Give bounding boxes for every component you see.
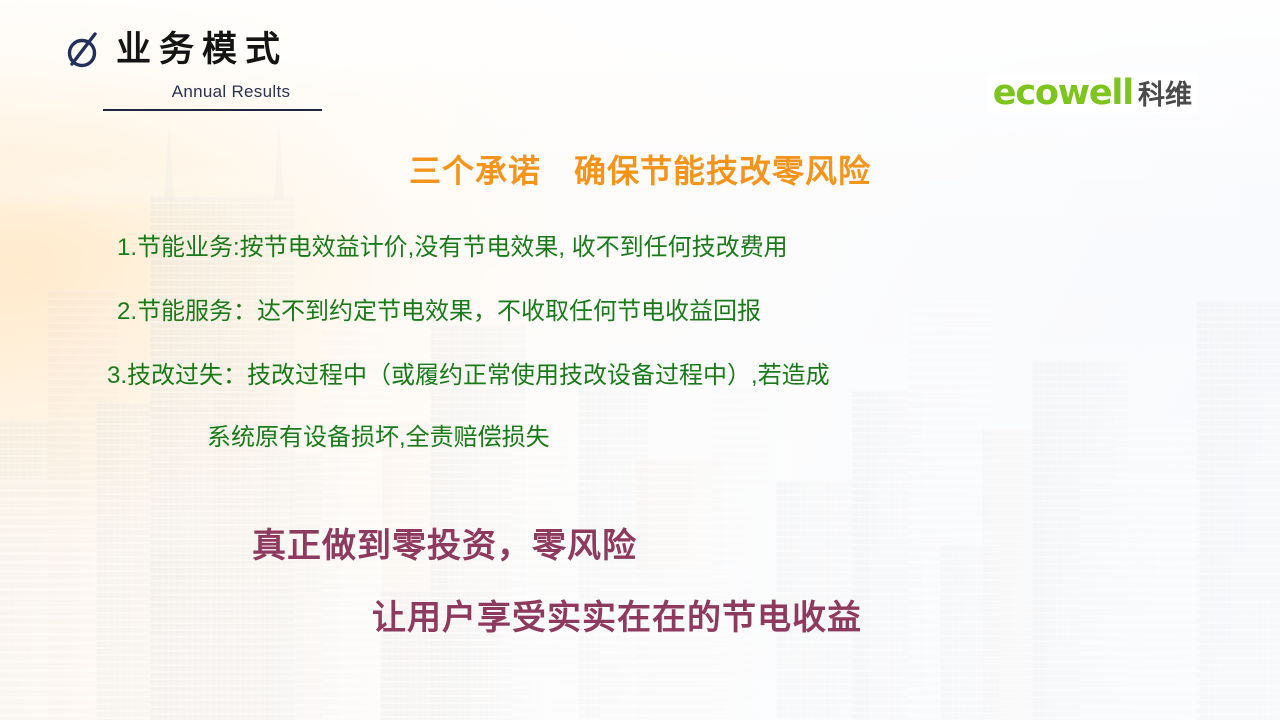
promise-item-1: 1.节能业务:按节电效益计价,没有节电效果, 收不到任何技改费用 (117, 236, 1280, 260)
section-headline: 三个承诺 确保节能技改零风险 (0, 146, 1280, 192)
page-subtitle: Annual Results (102, 82, 360, 102)
logo-chinese-name: 科维 (1138, 82, 1192, 109)
logo-wordmark: ecowell (993, 76, 1133, 111)
promise-item-3-continued: 系统原有设备损坏,全责赔偿损失 (207, 426, 1280, 450)
conclusion-line-1: 真正做到零投资，零风险 (252, 530, 637, 564)
conclusion-line-2: 让用户享受实实在在的节电收益 (372, 602, 862, 636)
page-title: 业务模式 (116, 32, 288, 67)
slashed-circle-icon (64, 26, 104, 72)
promise-item-2: 2.节能服务：达不到约定节电效果，不收取任何节电收益回报 (117, 300, 1280, 324)
promise-list: 1.节能业务:按节电效益计价,没有节电效果, 收不到任何技改费用 2.节能服务：… (0, 236, 1280, 450)
promise-item-3: 3.技改过失：技改过程中（或履约正常使用技改设备过程中）,若造成 (107, 364, 1280, 388)
header-divider (103, 109, 322, 111)
slide-canvas: 业务模式 Annual Results ecowell 科维 三个承诺 确保节能… (0, 0, 1280, 720)
ecowell-logo: ecowell 科维 (987, 74, 1198, 113)
slide-header: 业务模式 Annual Results (64, 26, 360, 111)
